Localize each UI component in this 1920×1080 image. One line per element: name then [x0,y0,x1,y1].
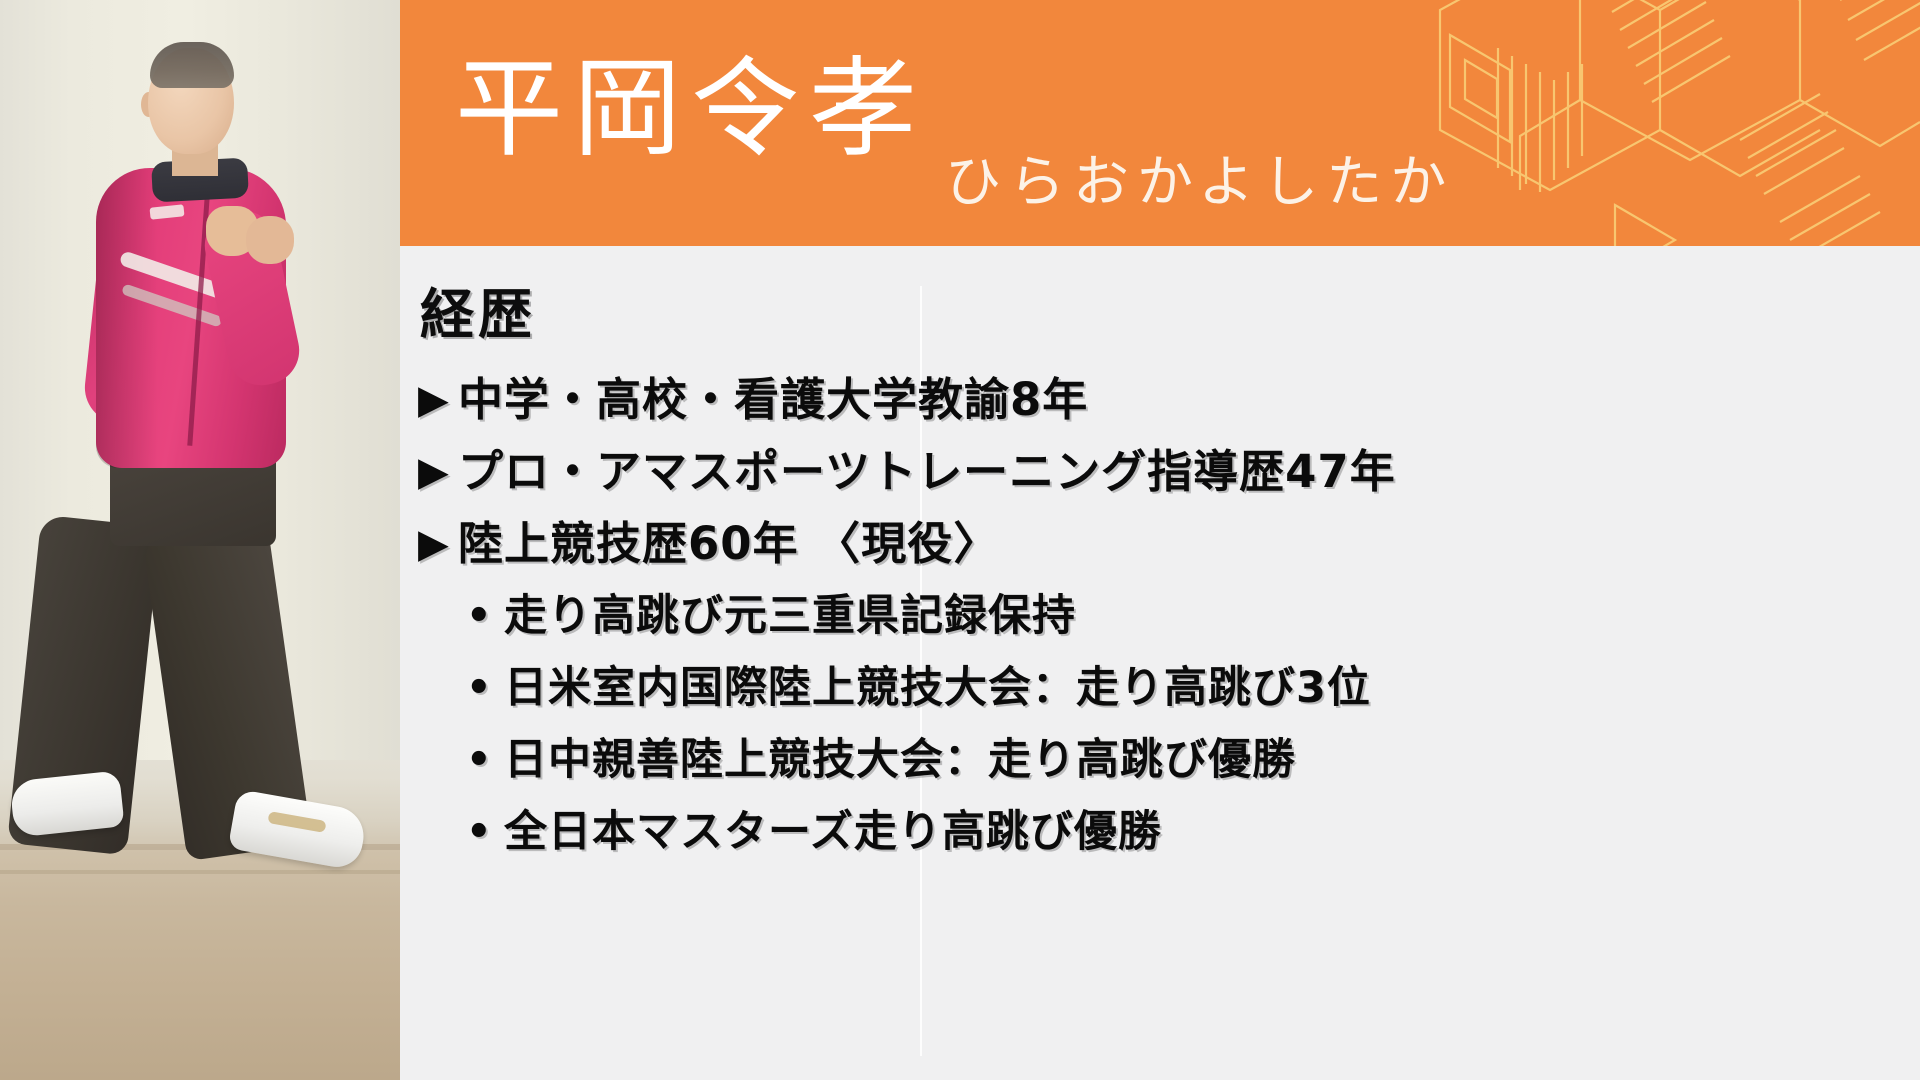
list-item: • 日中親善陸上競技大会：走り高跳び優勝 [418,724,1898,796]
bullet-marker-icon: • [466,724,504,796]
list-item-label: 中学・高校・看護大学教諭8年 [458,364,1088,436]
career-list: ▶ 中学・高校・看護大学教諭8年 ▶ プロ・アマスポーツトレーニング指導歴47年… [418,364,1898,868]
torso-shading [96,168,158,468]
hand-right [246,216,294,264]
list-item: ▶ プロ・アマスポーツトレーニング指導歴47年 [418,436,1898,508]
list-item: ▶ 中学・高校・看護大学教諭8年 [418,364,1898,436]
name-banner: 平岡令孝 ひらおかよしたか [400,0,1920,246]
shoe-right [228,789,368,871]
name-furigana: ひらおかよしたか [945,155,1454,211]
list-item-label: プロ・アマスポーツトレーニング指導歴47年 [458,436,1396,508]
list-item: • 全日本マスターズ走り高跳び優勝 [418,796,1898,868]
list-item-label: 陸上競技歴60年 〈現役〉 [458,508,999,580]
list-item-label: 日中親善陸上競技大会：走り高跳び優勝 [504,724,1296,796]
bullet-marker-icon: • [466,652,504,724]
list-item-label: 日米室内国際陸上競技大会：走り高跳び3位 [504,652,1371,724]
list-item: • 日米室内国際陸上競技大会：走り高跳び3位 [418,652,1898,724]
list-item: • 走り高跳び元三重県記録保持 [418,580,1898,652]
list-item-label: 全日本マスターズ走り高跳び優勝 [504,796,1162,868]
section-heading: 経歴 [420,270,536,349]
slide-root: 平岡令孝 ひらおかよしたか 経歴 ▶ 中学・高校・看護大学教諭8年 ▶ プロ・ア… [0,0,1920,1080]
triangle-marker-icon: ▶ [418,508,458,580]
triangle-marker-icon: ▶ [418,364,458,436]
career-panel: 経歴 ▶ 中学・高校・看護大学教諭8年 ▶ プロ・アマスポーツトレーニング指導歴… [400,246,1920,1080]
bullet-marker-icon: • [466,796,504,868]
hair [150,42,234,88]
bullet-marker-icon: • [466,580,504,652]
person-figure [0,0,400,1080]
presenter-photo [0,0,400,1080]
triangle-marker-icon: ▶ [418,436,458,508]
list-item: ▶ 陸上競技歴60年 〈現役〉 [418,508,1898,580]
page-title: 平岡令孝 [455,56,927,164]
list-item-label: 走り高跳び元三重県記録保持 [504,580,1076,652]
shoe-left [9,770,124,837]
